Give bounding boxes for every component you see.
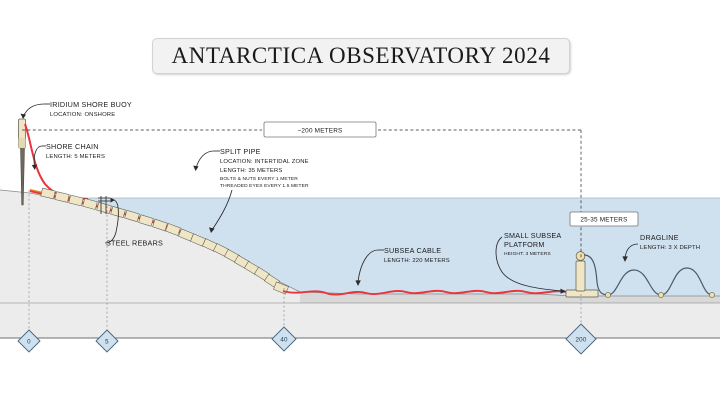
dimension-water-depth: 25-35 METERS <box>570 212 638 226</box>
annotation-line-dragline-0: LENGTH: 3 X DEPTH <box>640 245 700 251</box>
station-5-label: 5 <box>105 338 109 345</box>
platform-column <box>576 261 585 291</box>
station-200-label: 200 <box>576 337 587 344</box>
annotation-title-platform-line2: PLATFORM <box>504 240 545 249</box>
annotation-title-platform-line1: SMALL SUBSEA <box>504 231 561 240</box>
annotation-line-split-pipe-1: LENGTH: 35 METERS <box>220 168 282 174</box>
annotation-line-split-pipe-0: LOCATION: INTERTIDAL ZONE <box>220 159 309 165</box>
annotation-line-iridium-0: LOCATION: ONSHORE <box>50 112 115 118</box>
station-0-label: 0 <box>27 338 31 345</box>
annotation-title-shore-chain: SHORE CHAIN <box>46 142 99 151</box>
annotation-title-split-pipe: SPLIT PIPE <box>220 147 261 156</box>
platform-float-ball <box>576 252 585 261</box>
annotation-line-split-pipe-3: THREADED EYES EVERY 1.5 METER <box>220 183 309 189</box>
buoy-body-shade <box>19 138 26 148</box>
annotation-line-subsea-cable-0: LENGTH: 220 METERS <box>384 258 450 264</box>
diagram-canvas: ANTARCTICA OBSERVATORY 2024 <box>0 0 720 405</box>
dimension-label-depth: 25-35 METERS <box>580 217 627 224</box>
dragline-anchor-point <box>658 292 663 297</box>
station-40-label: 40 <box>280 336 288 343</box>
annotation-line-split-pipe-2: BOLTS & NUTS EVERY 1 METER <box>220 176 298 182</box>
dragline-anchor-point <box>605 292 610 297</box>
cross-section-illustration: ~200 METERS 25-35 METERS IRIDIUM SHORE B… <box>0 0 720 405</box>
dragline-anchor-point <box>709 292 714 297</box>
annotation-title-dragline: DRAGLINE <box>640 233 679 242</box>
dimension-label-span: ~200 METERS <box>298 128 343 135</box>
annotation-title-steel-rebars: STEEL REBARS <box>106 239 163 248</box>
annotation-line-platform-0: HEIGHT: 3 METERS <box>504 251 551 257</box>
annotation-line-shore-chain-0: LENGTH: 5 METERS <box>46 154 105 160</box>
annotation-title-iridium: IRIDIUM SHORE BUOY <box>50 100 132 109</box>
annotation-title-subsea-cable: SUBSEA CABLE <box>384 246 441 255</box>
